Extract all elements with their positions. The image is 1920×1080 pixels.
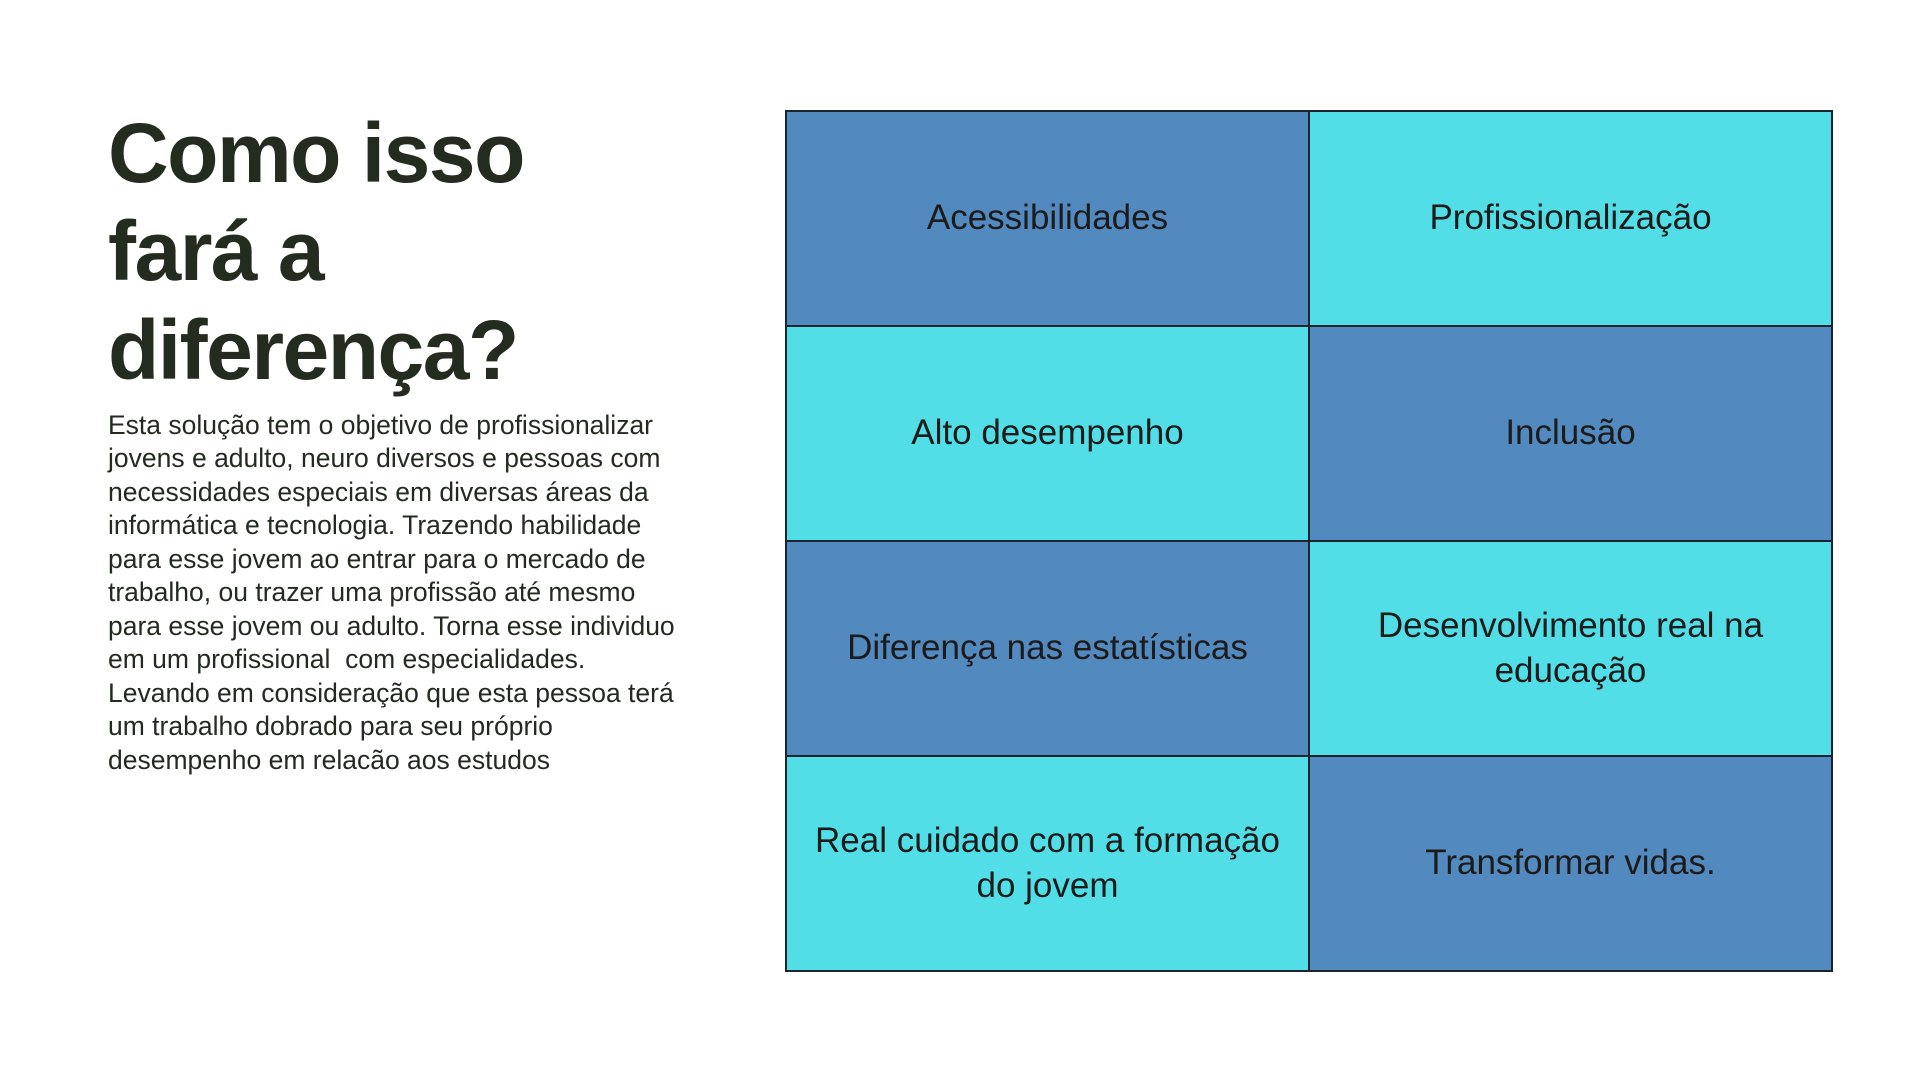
benefits-matrix: Acessibilidades Profissionalização Alto … <box>785 110 1833 972</box>
matrix-cell-label: Diferença nas estatísticas <box>847 626 1248 671</box>
matrix-cell-diferenca-nas-estatisticas[interactable]: Diferença nas estatísticas <box>787 542 1308 755</box>
slide-canvas: Como isso fará a diferença? Esta solução… <box>0 0 1920 1080</box>
matrix-cell-label: Transformar vidas. <box>1425 841 1715 886</box>
matrix-cell-desenvolvimento-real-na-educacao[interactable]: Desenvolvimento real na educação <box>1310 542 1831 755</box>
matrix-cell-label: Profissionalização <box>1429 196 1711 241</box>
matrix-cell-alto-desempenho[interactable]: Alto desempenho <box>787 327 1308 540</box>
page-title: Como isso fará a diferença? <box>108 104 628 399</box>
slide-body-paragraph: Esta solução tem o objetivo de profissio… <box>108 409 688 778</box>
matrix-cell-profissionalizacao[interactable]: Profissionalização <box>1310 112 1831 325</box>
matrix-cell-label: Real cuidado com a formação do jovem <box>805 819 1290 909</box>
matrix-cell-inclusao[interactable]: Inclusão <box>1310 327 1831 540</box>
matrix-cell-label: Inclusão <box>1505 411 1635 456</box>
left-text-column: Como isso fará a diferença? Esta solução… <box>108 104 688 777</box>
matrix-cell-acessibilidades[interactable]: Acessibilidades <box>787 112 1308 325</box>
matrix-cell-label: Desenvolvimento real na educação <box>1328 604 1813 694</box>
matrix-cell-label: Acessibilidades <box>927 196 1168 241</box>
matrix-cell-transformar-vidas[interactable]: Transformar vidas. <box>1310 757 1831 970</box>
matrix-cell-label: Alto desempenho <box>911 411 1183 456</box>
matrix-cell-real-cuidado-formacao[interactable]: Real cuidado com a formação do jovem <box>787 757 1308 970</box>
